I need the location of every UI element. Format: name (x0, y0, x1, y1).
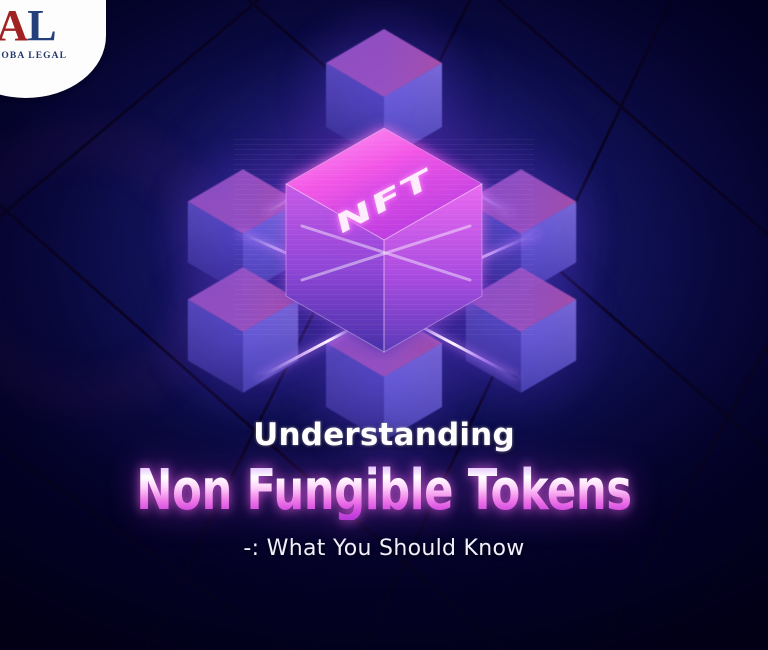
logo-monogram-a: A (0, 1, 27, 50)
hero-illustration: NFT (104, 15, 664, 455)
kicker-text: Understanding (0, 418, 768, 453)
logo-wordmark: AKOBA LEGAL (0, 51, 106, 61)
logo-monogram-l: L (27, 1, 55, 50)
logo-monogram: AL (0, 4, 106, 48)
core-nft-cube: NFT (274, 110, 494, 360)
core-cube-scanlines (234, 135, 534, 335)
nft-promotional-banner: NFT AL AKOBA LEGAL Understanding Non Fun… (0, 0, 768, 650)
logo-inner: AL AKOBA LEGAL (0, 4, 106, 61)
subline-text: -: What You Should Know (0, 536, 768, 561)
headline-text: Non Fungible Tokens (54, 462, 714, 520)
headline-text-block: Understanding Non Fungible Tokens -: Wha… (0, 418, 768, 561)
